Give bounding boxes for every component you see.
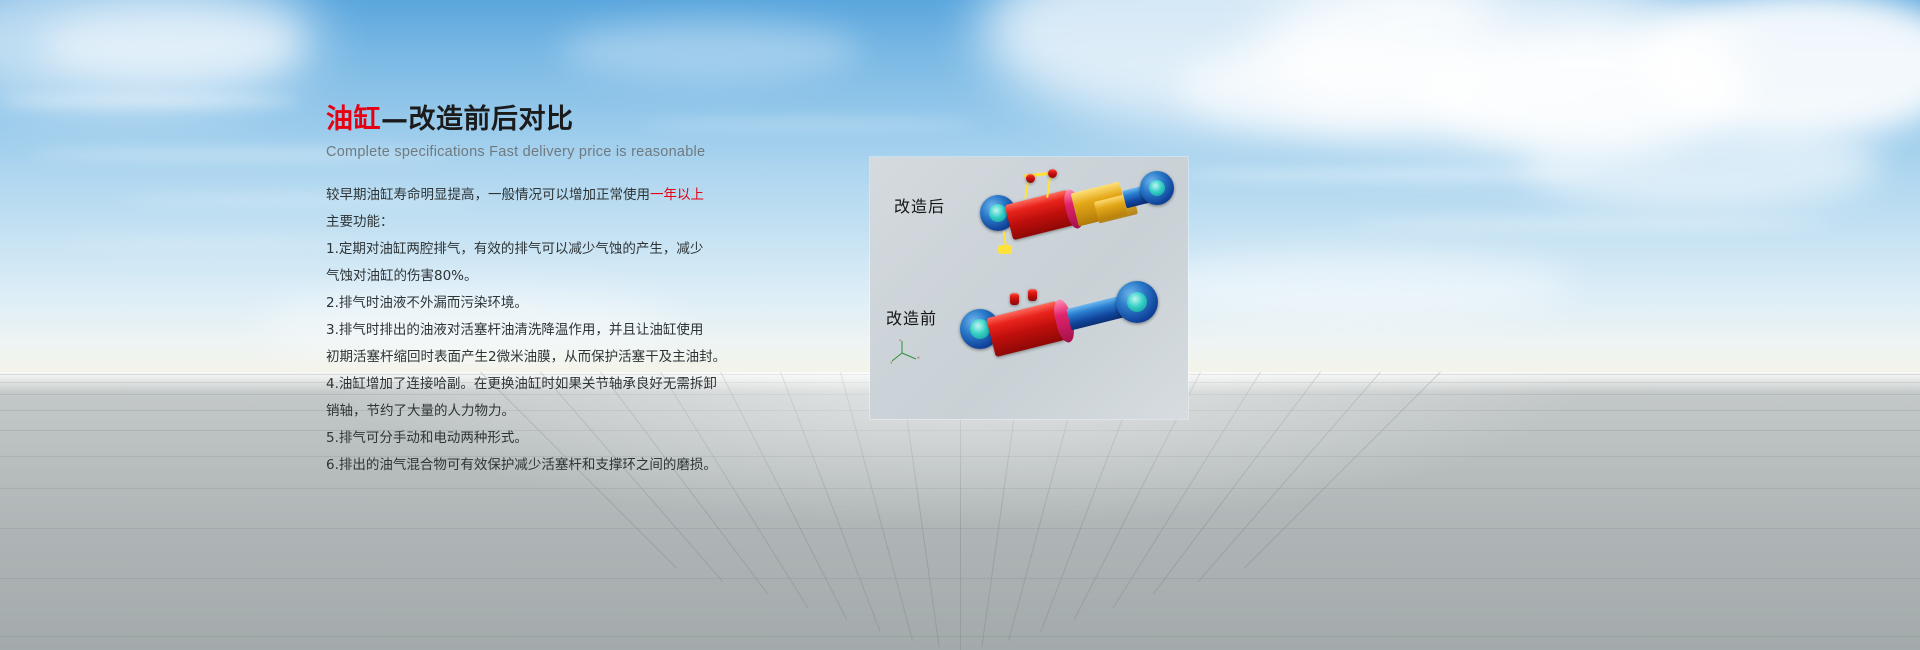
cylinder-eye-bore xyxy=(1127,292,1147,312)
feature-line-text: 气蚀对油缸的伤害80%。 xyxy=(326,268,478,284)
page-title-rest: —改造前后对比 xyxy=(381,104,574,135)
cylinder-before xyxy=(956,279,1182,389)
page-title-highlight: 油缸 xyxy=(326,104,381,135)
cloud-shape xyxy=(1520,120,1880,210)
feature-line-text: 5.排气可分手动和电动两种形式。 xyxy=(326,430,528,446)
cloud-streak xyxy=(1350,220,1830,229)
banner-stage: 油缸—改造前后对比 Complete specifications Fast d… xyxy=(0,0,1920,650)
svg-text:Y: Y xyxy=(890,360,893,365)
feature-line: 6.排出的油气混合物可有效保护减少活塞杆和支撑环之间的磨损。 xyxy=(326,454,886,476)
banner-text-block: 油缸—改造前后对比 Complete specifications Fast d… xyxy=(326,104,886,481)
feature-line: 5.排气可分手动和电动两种形式。 xyxy=(326,427,886,449)
feature-line-highlight: 一年以上 xyxy=(650,187,704,203)
feature-line: 销轴，节约了大量的人力物力。 xyxy=(326,400,886,422)
feature-line: 气蚀对油缸的伤害80%。 xyxy=(326,265,886,287)
page-title: 油缸—改造前后对比 xyxy=(326,104,886,135)
feature-line: 4.油缸增加了连接哈副。在更换油缸时如果关节轴承良好无需拆卸 xyxy=(326,373,886,395)
feature-line-text: 6.排出的油气混合物可有效保护减少活塞杆和支撑环之间的磨损。 xyxy=(326,457,717,473)
cloud-shape xyxy=(1150,250,1570,320)
cloud-streak xyxy=(1180,170,1600,180)
feature-line: 主要功能： xyxy=(326,211,886,233)
cylinder-port xyxy=(1010,293,1019,305)
cylinder-port xyxy=(1028,289,1037,301)
label-after-modification: 改造后 xyxy=(894,193,945,217)
vent-valve xyxy=(998,245,1012,254)
feature-line-text: 主要功能： xyxy=(326,214,394,230)
feature-line-text: 4.油缸增加了连接哈副。在更换油缸时如果关节轴承良好无需拆卸 xyxy=(326,376,717,392)
feature-line-text: 初期活塞杆缩回时表面产生2微米油膜，从而保护活塞干及主油封。 xyxy=(326,349,726,365)
cloud-streak xyxy=(0,96,300,106)
cloud-shape xyxy=(40,10,300,80)
feature-line: 2.排气时油液不外漏而污染环境。 xyxy=(326,292,886,314)
svg-text:X: X xyxy=(917,355,920,360)
cloud-shape xyxy=(560,20,860,80)
feature-line-text: 2.排气时油液不外漏而污染环境。 xyxy=(326,295,528,311)
vent-cap xyxy=(1048,169,1057,178)
product-comparison-image: 改造后 改造前 xyxy=(870,157,1188,419)
feature-line-text: 3.排气时排出的油液对活塞杆油清洗降温作用，并且让油缸使用 xyxy=(326,322,703,338)
feature-line: 初期活塞杆缩回时表面产生2微米油膜，从而保护活塞干及主油封。 xyxy=(326,346,886,368)
coordinate-axis-icon: Z X Y xyxy=(890,339,920,365)
cylinder-after xyxy=(974,169,1180,269)
cloud-shape xyxy=(1180,40,1480,135)
cylinder-eye-bore xyxy=(1149,180,1165,196)
label-before-modification: 改造前 xyxy=(886,305,937,329)
feature-line-text: 1.定期对油缸两腔排气，有效的排气可以减少气蚀的产生，减少 xyxy=(326,241,703,257)
vent-cap xyxy=(1026,174,1035,183)
feature-list: 较早期油缸寿命明显提高，一般情况可以增加正常使用一年以上 主要功能： 1.定期对… xyxy=(326,184,886,476)
feature-line-text: 销轴，节约了大量的人力物力。 xyxy=(326,403,515,419)
feature-line: 3.排气时排出的油液对活塞杆油清洗降温作用，并且让油缸使用 xyxy=(326,319,886,341)
feature-line-text: 较早期油缸寿命明显提高，一般情况可以增加正常使用 xyxy=(326,187,650,203)
page-subtitle: Complete specifications Fast delivery pr… xyxy=(326,144,886,160)
feature-line: 较早期油缸寿命明显提高，一般情况可以增加正常使用一年以上 xyxy=(326,184,886,206)
feature-line: 1.定期对油缸两腔排气，有效的排气可以减少气蚀的产生，减少 xyxy=(326,238,886,260)
cloud-streak xyxy=(60,240,360,247)
